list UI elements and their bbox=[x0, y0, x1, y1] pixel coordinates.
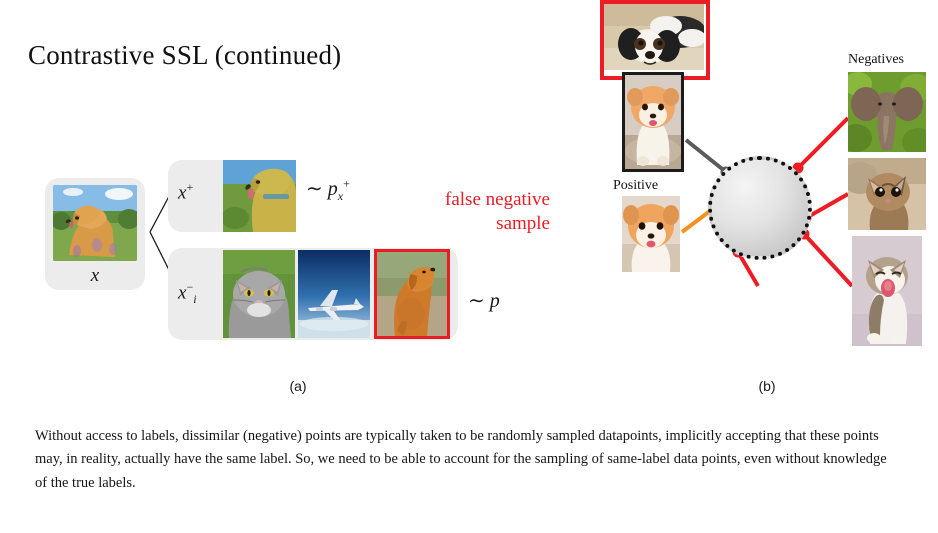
panel-b-caption: (b) bbox=[712, 378, 822, 394]
false-negative-annotation-line1: false negative bbox=[388, 188, 550, 212]
slide-canvas: Contrastive SSL (continued) bbox=[0, 0, 938, 533]
positive-distribution-label: ∼ px+ bbox=[306, 176, 350, 204]
negative-image-cat bbox=[223, 250, 295, 338]
x-plus-label: x+ bbox=[178, 180, 193, 204]
false-negative-image-dog bbox=[374, 249, 450, 339]
panel-a-diagram: x x+ ∼ px+ false negative bbox=[0, 0, 600, 410]
panel-b-diagram: Anchor Positive Negatives bbox=[600, 0, 938, 410]
false-negative-annotation: false negative sample bbox=[388, 188, 550, 235]
panel-a-caption: (a) bbox=[238, 378, 358, 394]
negative-distribution-label: ∼ p bbox=[468, 288, 500, 313]
false-negative-image-spaniel bbox=[600, 0, 710, 80]
x-i-minus-label: x−i bbox=[178, 280, 197, 307]
positive-image bbox=[223, 160, 296, 232]
spaniel-photo-inner bbox=[604, 4, 934, 406]
false-negative-annotation-line2: sample bbox=[388, 212, 550, 236]
body-paragraph: Without access to labels, dissimilar (ne… bbox=[35, 425, 901, 495]
negative-image-airplane bbox=[298, 250, 370, 338]
anchor-x-label: x bbox=[45, 265, 145, 287]
anchor-image bbox=[53, 185, 137, 261]
